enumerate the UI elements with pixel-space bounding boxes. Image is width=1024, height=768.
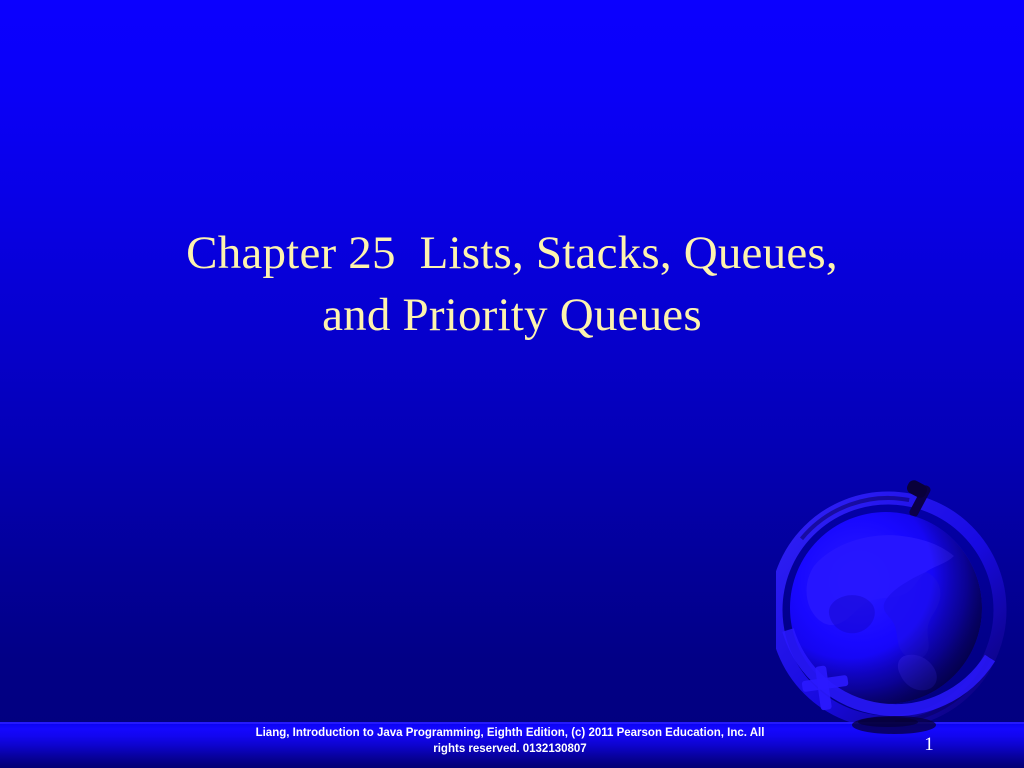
globe-sphere: [790, 512, 982, 704]
globe-graphic: [776, 480, 1024, 745]
globe-stand: [802, 665, 849, 710]
globe-icon: [776, 480, 1024, 745]
globe-landmasses: [790, 512, 982, 704]
globe-ring-front: [788, 630, 990, 710]
slide-title: Chapter 25 Lists, Stacks, Queues, and Pr…: [62, 222, 962, 346]
footer-copyright-line-2: rights reserved. 0132130807: [180, 741, 840, 757]
slide-title-line-1: Chapter 25 Lists, Stacks, Queues,: [62, 222, 962, 284]
footer-copyright: Liang, Introduction to Java Programming,…: [180, 725, 840, 757]
presentation-slide: Chapter 25 Lists, Stacks, Queues, and Pr…: [0, 0, 1024, 768]
slide-title-line-2: and Priority Queues: [62, 284, 962, 346]
globe-meridian-ring: [776, 480, 1024, 745]
footer-band-highlight: [0, 722, 1024, 724]
footer-copyright-line-1: Liang, Introduction to Java Programming,…: [180, 725, 840, 741]
page-number: 1: [905, 733, 953, 757]
globe-axis-pin: [905, 480, 932, 518]
